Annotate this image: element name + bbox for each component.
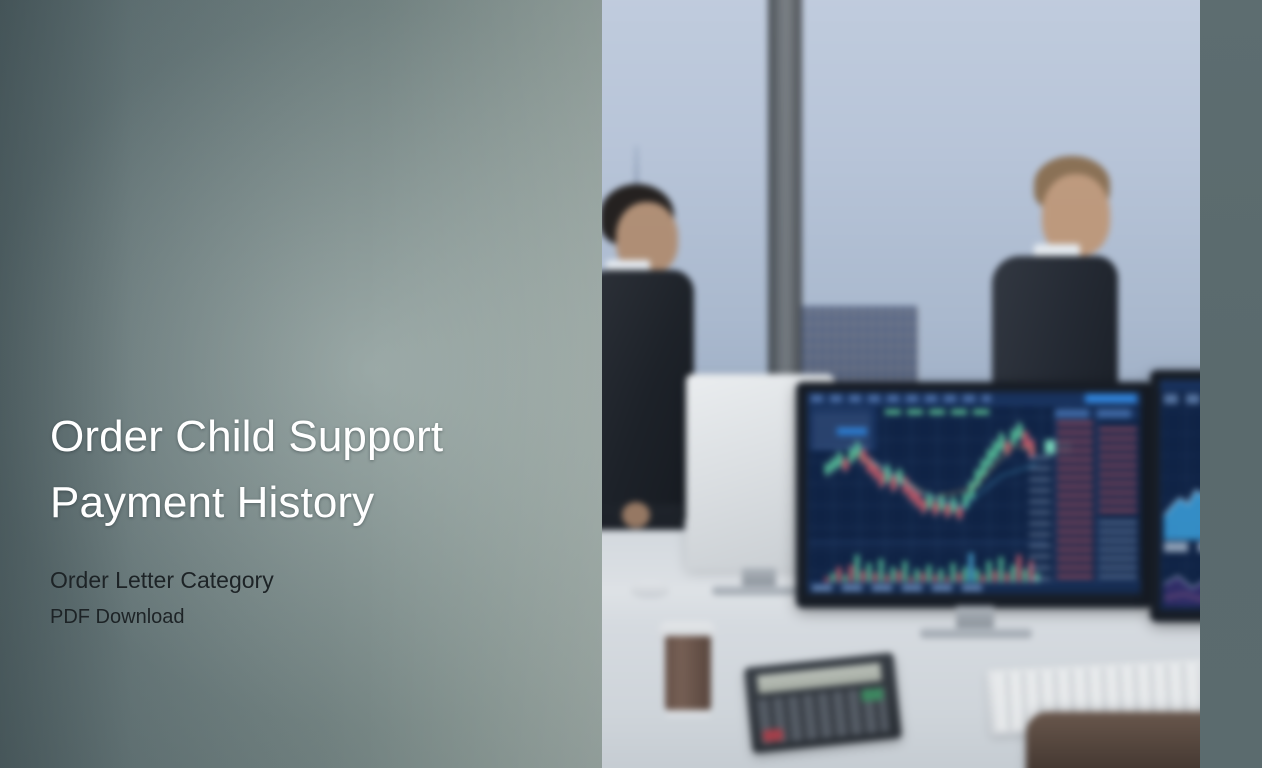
imac-foot: [712, 586, 808, 595]
calculator: [744, 652, 902, 753]
order-book-tabs: [1055, 409, 1139, 418]
title-block: Order Child Support Payment History Orde…: [50, 404, 520, 630]
volume-chart: [823, 547, 1045, 585]
candlestick-chart: [823, 416, 1045, 536]
page-title-line-2: Payment History: [50, 470, 520, 536]
status-bar-items: [812, 585, 982, 591]
calculator-key-red: [763, 728, 784, 742]
order-book-right-rows: [1099, 422, 1137, 512]
letter-category-label: Order Letter Category: [50, 565, 520, 595]
download-format-label: PDF Download: [50, 604, 520, 630]
trading-monitor: [796, 382, 1152, 608]
panel-separator: [809, 542, 1047, 543]
chart-annotation: [885, 410, 995, 414]
toolbar-highlight: [1085, 394, 1137, 403]
hero-photo-content: [520, 0, 1262, 768]
left-wall-panel: [0, 0, 602, 768]
mouse: [630, 582, 670, 598]
calculator-key-green: [861, 688, 884, 702]
toolbar-buttons: [811, 395, 991, 402]
trading-monitor-screen: [807, 392, 1141, 594]
trading-monitor-foot: [920, 628, 1032, 638]
slide-canvas: Order Child Support Payment History Orde…: [0, 0, 1262, 768]
watchlist-header: [1029, 452, 1051, 580]
order-book-right-rows-lower: [1099, 516, 1137, 578]
page-title-line-1: Order Child Support: [50, 404, 520, 470]
order-book-left-rows: [1057, 422, 1093, 578]
hero-photo: [520, 0, 1262, 768]
coffee-cup: [665, 636, 711, 714]
window-mullion: [768, 0, 802, 438]
coffee-cup-base: [666, 710, 710, 717]
right-edge-band: [1200, 0, 1262, 768]
hand: [622, 502, 650, 528]
